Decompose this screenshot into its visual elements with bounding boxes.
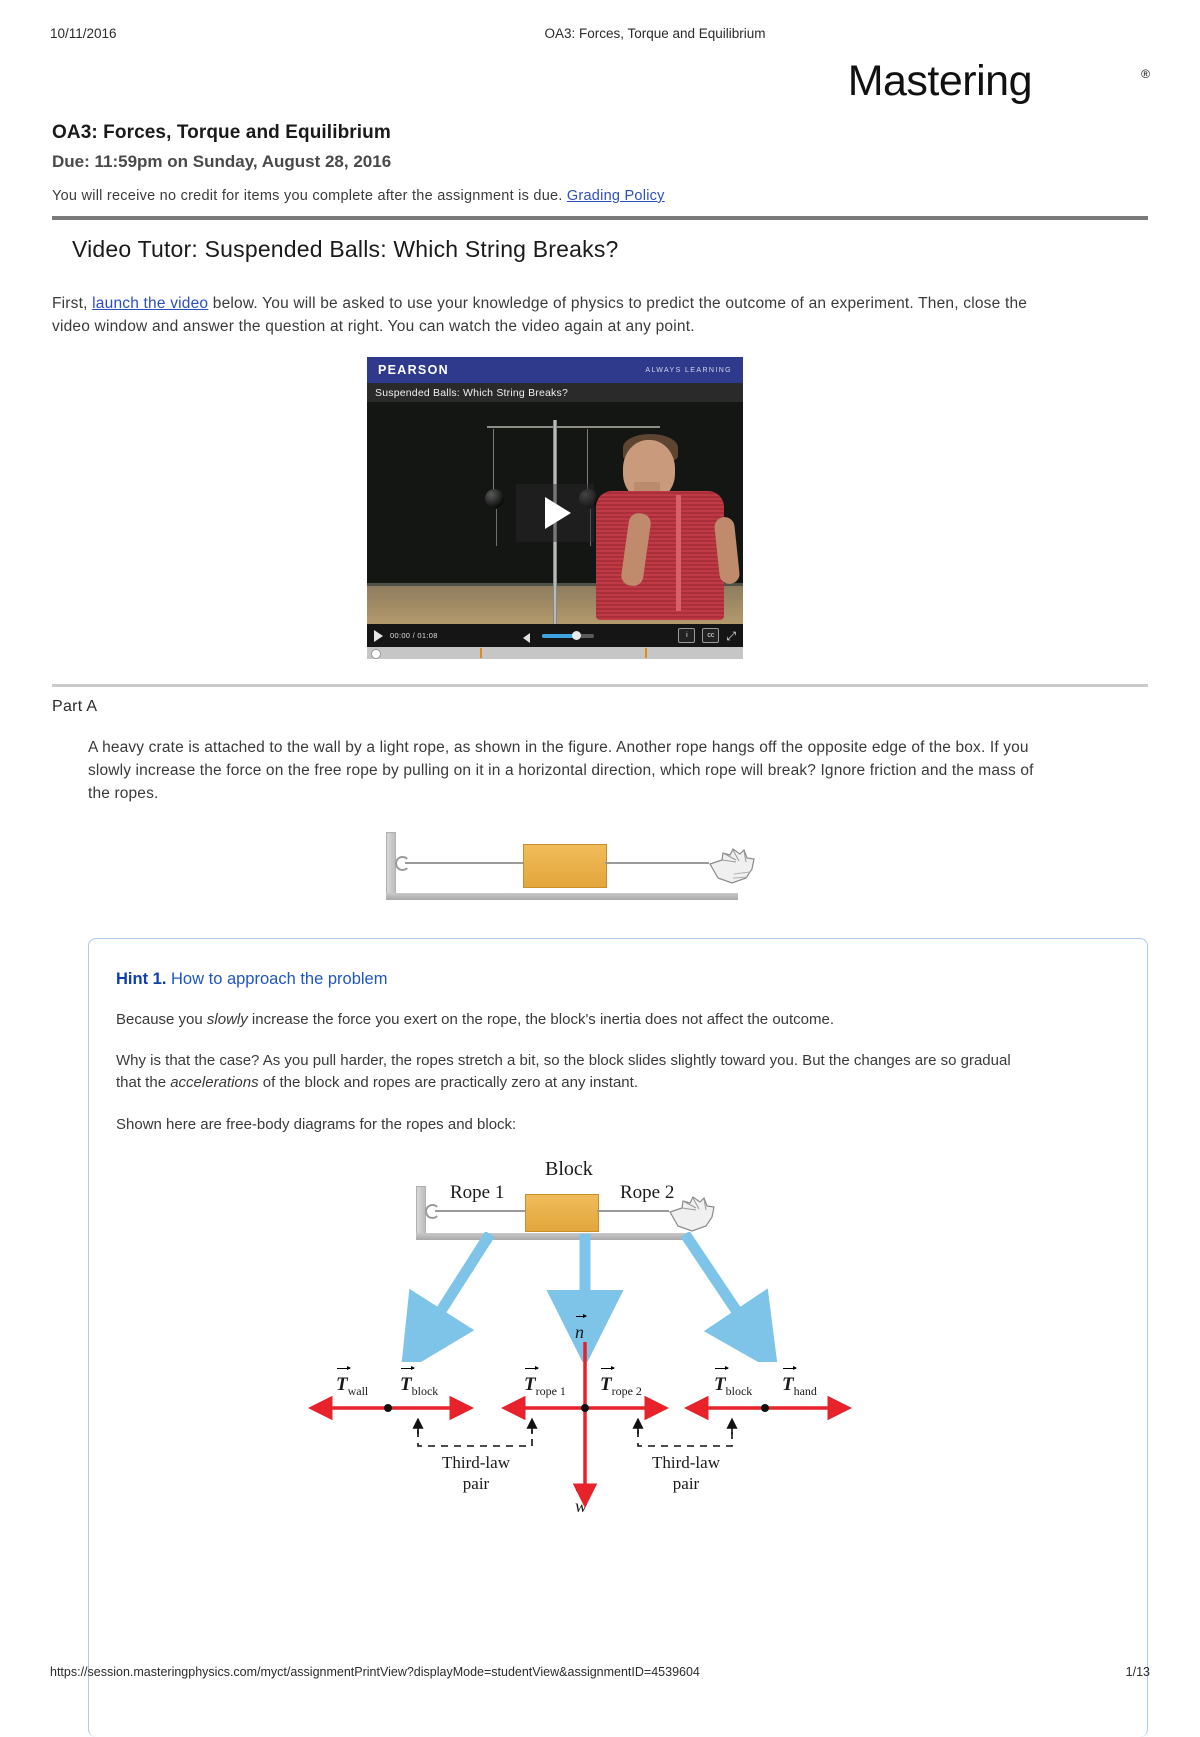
- video-time-display: 00:00 / 01:08: [390, 631, 438, 640]
- hint-paragraph-3: Shown here are free-body diagrams for th…: [116, 1114, 1036, 1136]
- brand-wordmark: Mastering: [848, 57, 1032, 106]
- pearson-wordmark: PEARSON: [378, 363, 449, 377]
- hint-title-text: How to approach the problem: [171, 970, 387, 988]
- chapter-marker-2[interactable]: [645, 648, 647, 658]
- speaker-icon[interactable]: [523, 630, 535, 642]
- floor-surface: [386, 893, 738, 900]
- string-lower-left: [496, 509, 497, 547]
- closed-captions-button[interactable]: cc: [702, 628, 719, 643]
- hint-paragraph-1: Because you slowly increase the force yo…: [116, 1009, 1016, 1031]
- fullscreen-icon[interactable]: ⤢: [726, 630, 736, 642]
- footer-page-number: 1/13: [1126, 1665, 1150, 1679]
- chapter-marker-1[interactable]: [480, 648, 482, 658]
- hint-number: Hint 1.: [116, 970, 166, 988]
- string-upper-right: [587, 429, 588, 491]
- hint-paragraph-2: Why is that the case? As you pull harder…: [116, 1050, 1036, 1094]
- video-progress-bar[interactable]: [367, 647, 743, 659]
- launch-video-link[interactable]: launch the video: [92, 295, 208, 312]
- support-bar: [487, 426, 660, 428]
- registered-mark-icon: ®: [1141, 67, 1150, 81]
- third-law-label-right: Third-lawpair: [630, 1452, 742, 1494]
- fbd-block-label: Block: [545, 1158, 593, 1181]
- presenter-shirt: [596, 491, 724, 620]
- third-law-label-left: Third-lawpair: [420, 1452, 532, 1494]
- footer-url: https://session.masteringphysics.com/myc…: [50, 1665, 700, 1679]
- fbd-rope-1: [435, 1210, 525, 1212]
- print-footer: https://session.masteringphysics.com/myc…: [50, 1665, 1150, 1679]
- section-intro-paragraph: First, launch the video below. You will …: [52, 292, 1052, 338]
- section-heading: Video Tutor: Suspended Balls: Which Stri…: [72, 236, 619, 263]
- pulling-hand-icon: [706, 844, 758, 888]
- credit-note-text: You will receive no credit for items you…: [52, 188, 563, 204]
- volume-fill: [542, 634, 574, 638]
- hint-p1-emphasis: slowly: [207, 1011, 248, 1028]
- fbd-pulling-hand-icon: [666, 1192, 718, 1236]
- rope-2-right: [605, 862, 709, 864]
- video-caption-title: Suspended Balls: Which String Breaks?: [367, 383, 743, 402]
- volume-slider[interactable]: [542, 634, 594, 638]
- intro-text-before: First,: [52, 295, 92, 312]
- fbd-crate-block: [525, 1194, 599, 1232]
- video-branding-bar: PEARSON ALWAYS LEARNING: [367, 357, 743, 383]
- fbd-rope-2: [597, 1210, 669, 1212]
- video-player[interactable]: PEARSON ALWAYS LEARNING Suspended Balls:…: [367, 357, 743, 659]
- header-divider: [52, 216, 1148, 220]
- part-a-divider: [52, 684, 1148, 687]
- video-stage[interactable]: [367, 402, 743, 624]
- print-doc-title: OA3: Forces, Torque and Equilibrium: [160, 26, 1150, 41]
- string-upper-left: [493, 429, 494, 491]
- play-triangle-icon: [545, 497, 571, 529]
- mastering-logo: Mastering ®: [730, 57, 1150, 117]
- force-label-normal: n: [575, 1322, 584, 1343]
- crate-block: [523, 844, 607, 888]
- video-control-bar[interactable]: 00:00 / 01:08 i cc ⤢: [367, 624, 743, 647]
- play-icon[interactable]: [374, 630, 383, 642]
- assignment-due-date: Due: 11:59pm on Sunday, August 28, 2016: [52, 152, 391, 172]
- always-learning-tagline: ALWAYS LEARNING: [645, 367, 732, 374]
- assignment-title: OA3: Forces, Torque and Equilibrium: [52, 122, 391, 144]
- grading-policy-link[interactable]: Grading Policy: [567, 188, 665, 204]
- part-a-label: Part A: [52, 698, 97, 716]
- volume-knob[interactable]: [572, 631, 581, 640]
- print-header: 10/11/2016 OA3: Forces, Torque and Equil…: [50, 26, 1150, 41]
- big-play-button[interactable]: [516, 484, 594, 542]
- info-button[interactable]: i: [678, 628, 695, 643]
- part-a-question: A heavy crate is attached to the wall by…: [88, 736, 1048, 805]
- fbd-force-arrows: [300, 1342, 870, 1532]
- printed-assignment-page: 10/11/2016 OA3: Forces, Torque and Equil…: [0, 0, 1200, 1697]
- assignment-credit-note: You will receive no credit for items you…: [52, 188, 665, 204]
- free-body-diagram: Block Rope 1 Rope 2: [300, 1152, 870, 1532]
- rope-1-left: [405, 862, 523, 864]
- crate-rope-figure: [378, 826, 778, 906]
- hint-p1-b: increase the force you exert on the rope…: [248, 1011, 834, 1028]
- hint-p2-emphasis: accelerations: [170, 1074, 258, 1091]
- hint-heading: Hint 1. How to approach the problem: [116, 970, 387, 989]
- suspended-ball-left: [485, 489, 504, 508]
- presenter-shirt-placket: [676, 495, 681, 610]
- hint-p1-a: Because you: [116, 1011, 207, 1028]
- progress-scrubber-handle[interactable]: [371, 649, 381, 659]
- hint-p2-b: of the block and ropes are practically z…: [259, 1074, 638, 1091]
